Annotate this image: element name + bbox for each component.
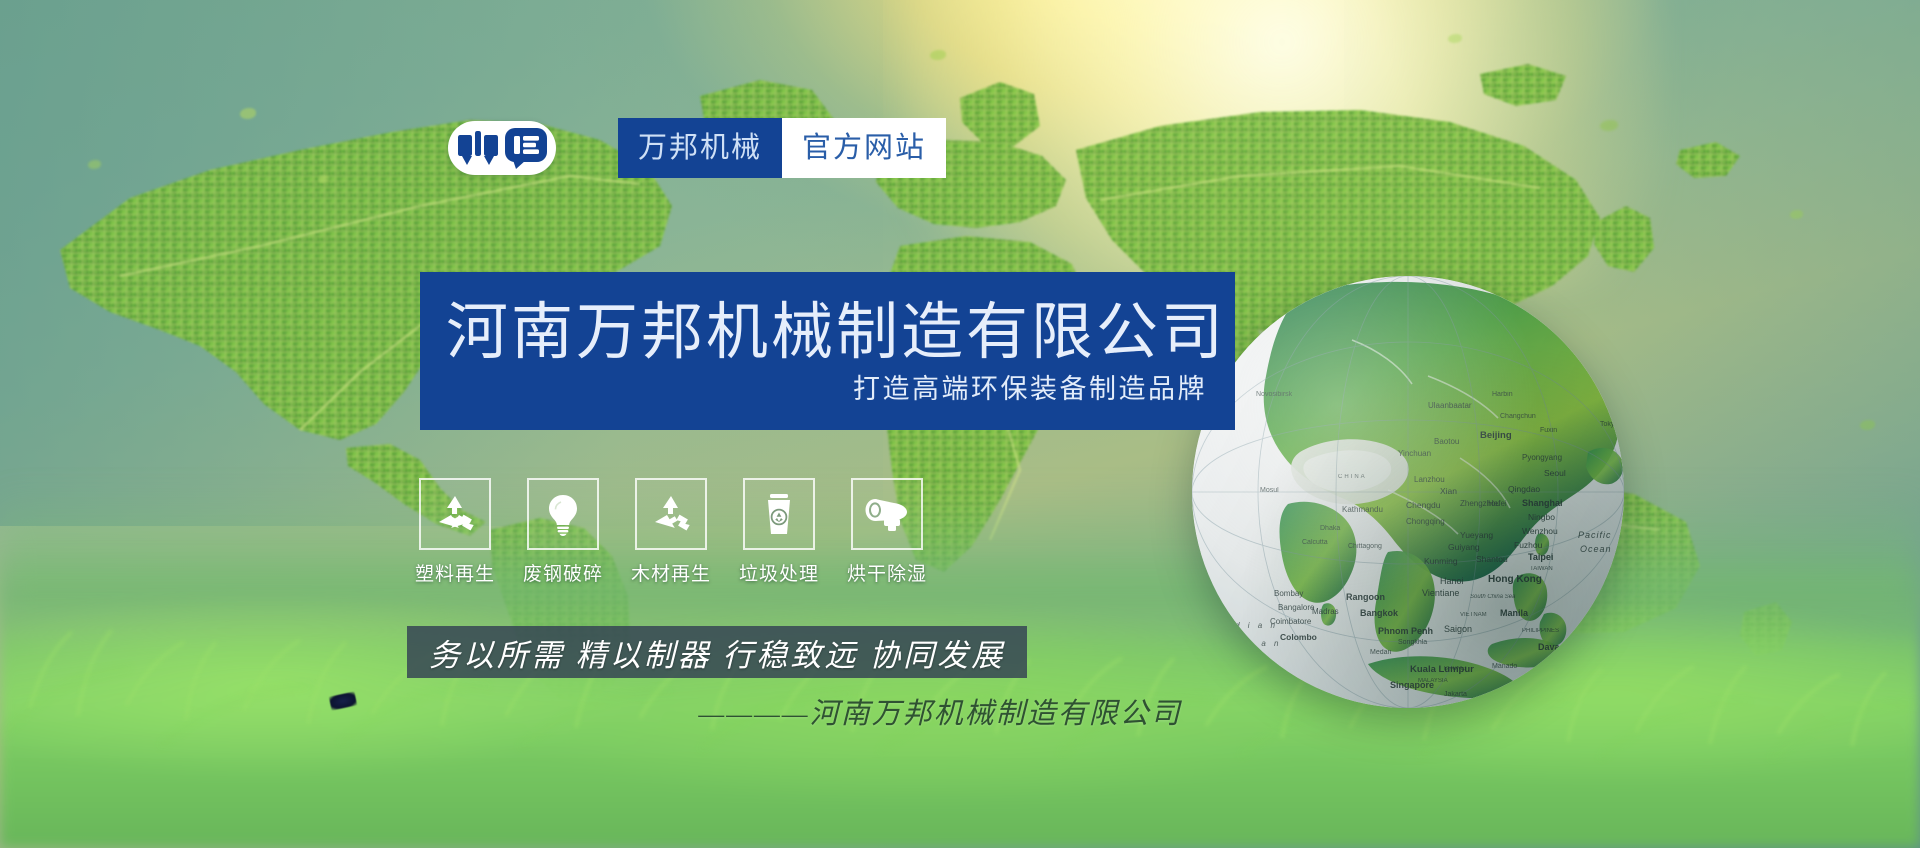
feature-label: 塑料再生 xyxy=(415,559,495,586)
slogan-bar: 务以所需 精以制器 行稳致远 协同发展 xyxy=(407,626,1027,678)
company-banner: 河南万邦机械制造有限公司 打造高端环保装备制造品牌 xyxy=(420,272,1235,430)
recycle-icon xyxy=(649,492,693,536)
nav-tab-brand-label: 万邦机械 xyxy=(638,134,762,163)
feature-scrap-steel-crushing[interactable]: 废钢破碎 xyxy=(524,478,602,586)
nav-tab-official-site[interactable]: 官方网站 xyxy=(782,118,946,178)
nav-tab-brand[interactable]: 万邦机械 xyxy=(618,118,782,178)
feature-icon-box xyxy=(419,478,491,550)
nav-tabs: 万邦机械 官方网站 xyxy=(618,118,946,178)
lightbulb-icon xyxy=(541,492,585,536)
wanbang-logo[interactable] xyxy=(448,121,556,175)
feature-drying-dehumidifying[interactable]: 烘干除湿 xyxy=(848,478,926,586)
header-logo-and-nav: 万邦机械 官方网站 xyxy=(448,118,946,178)
hero-banner-stage: Ulaanbaatar Beijing Baotou Yinchuan Lanz… xyxy=(0,0,1920,848)
feature-icon-box xyxy=(635,478,707,550)
blower-dryer-icon xyxy=(864,494,910,534)
company-tagline: 打造高端环保装备制造品牌 xyxy=(446,375,1207,405)
trash-bin-recycle-icon xyxy=(757,492,801,536)
feature-wood-recycling[interactable]: 木材再生 xyxy=(632,478,710,586)
feature-waste-treatment[interactable]: 垃圾处理 xyxy=(740,478,818,586)
slogan-attribution: ————河南万邦机械制造有限公司 xyxy=(660,690,1220,732)
feature-icon-box xyxy=(743,478,815,550)
feature-label: 木材再生 xyxy=(631,559,711,586)
logo-mark-icon xyxy=(455,126,549,170)
slogan-text: 务以所需 精以制器 行稳致远 协同发展 xyxy=(429,630,1005,675)
nav-tab-official-site-label: 官方网站 xyxy=(802,134,926,163)
feature-label: 废钢破碎 xyxy=(523,559,603,586)
company-name: 河南万邦机械制造有限公司 xyxy=(446,300,1207,367)
feature-plastic-recycling[interactable]: 塑料再生 xyxy=(416,478,494,586)
recycle-icon xyxy=(433,492,477,536)
feature-icon-box xyxy=(527,478,599,550)
feature-icon-row: 塑料再生 废钢破碎 xyxy=(416,478,926,586)
feature-icon-box xyxy=(851,478,923,550)
feature-label: 垃圾处理 xyxy=(739,559,819,586)
feature-label: 烘干除湿 xyxy=(847,559,927,586)
